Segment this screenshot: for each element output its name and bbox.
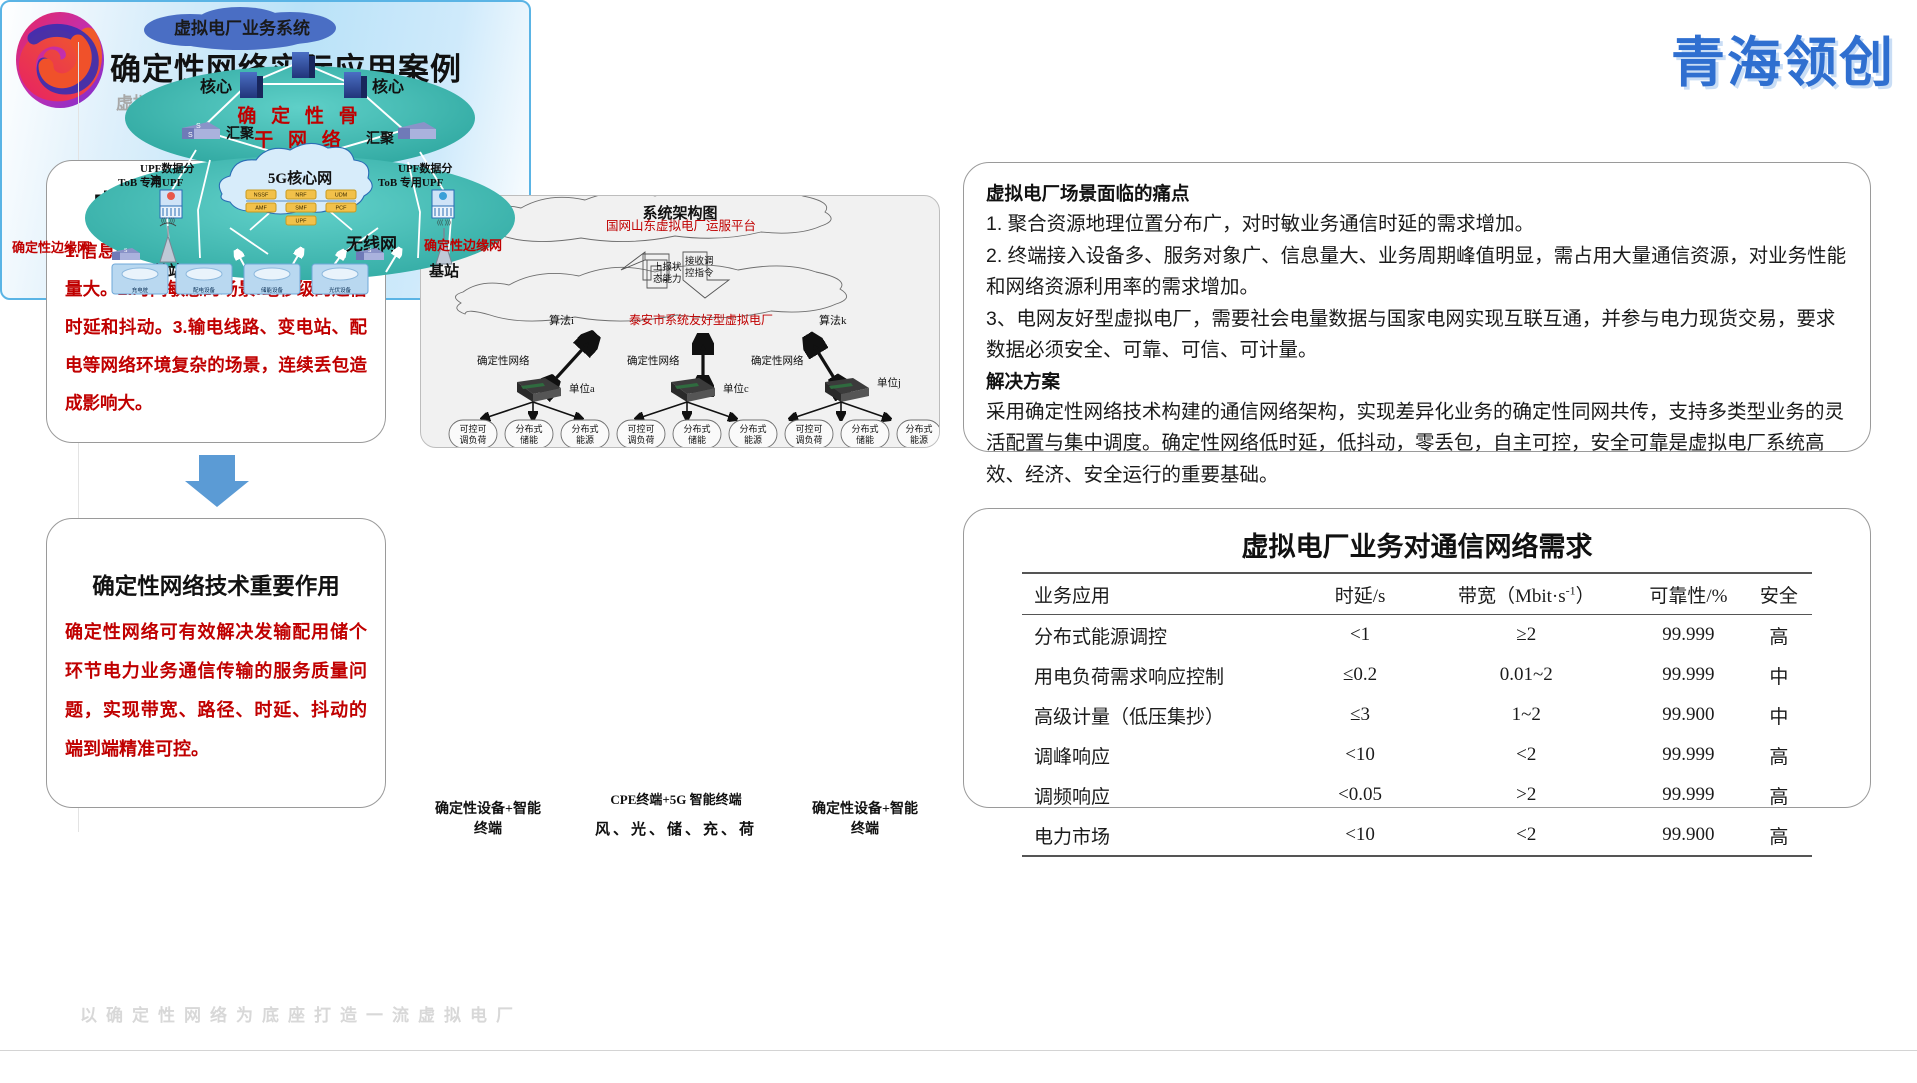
table-row: 电力市场<10<299.900高: [1022, 815, 1812, 856]
agg-right-label: 汇聚: [366, 131, 395, 147]
svg-text:((( ))): ((( ))): [161, 218, 175, 224]
cell-app: 用电负荷需求响应控制: [1022, 655, 1299, 695]
upf-right-line2: ToB 专用UPF: [378, 175, 444, 189]
cell-security: 高: [1746, 615, 1812, 656]
vpp-cloud-label: 虚拟电厂业务系统: [174, 18, 310, 38]
upf-node-icon: [160, 190, 182, 218]
arch-leaf-group: 可控可调负荷 分布式储能 分布式能源 可控可调负荷 分布式储能 分布式能源 可控…: [449, 420, 940, 448]
requirements-title: 虚拟电厂业务对通信网络需求: [980, 525, 1854, 564]
svg-text:分布式: 分布式: [739, 423, 766, 434]
edge-left-label: 确定性边缘网: [12, 240, 90, 255]
upf-left-line1: UPF数据分: [140, 161, 194, 175]
th-bandwidth: 带宽（Mbit·s-1）: [1422, 573, 1632, 615]
svg-text:SMF: SMF: [295, 206, 307, 212]
svg-text:S: S: [188, 132, 193, 139]
svg-text:储能: 储能: [688, 434, 706, 445]
th-app: 业务应用: [1022, 573, 1299, 615]
table-row: 调峰响应<10<299.999高: [1022, 735, 1812, 775]
arch-server-icon: [825, 378, 869, 402]
down-arrow-icon: [185, 455, 249, 507]
svg-text:充电桩: 充电桩: [132, 286, 149, 294]
svg-text:光伏设备: 光伏设备: [329, 286, 352, 294]
energy-sources-label: 风、光、储、充、荷: [546, 818, 806, 839]
arch-up-label-2: 态能力: [653, 273, 682, 285]
svg-text:储能: 储能: [856, 434, 874, 445]
bottom-left-terminal-label: 确定性设备+智能终端: [418, 800, 558, 840]
footer-watermark: 以确定性网络为底座打造一流虚拟电厂: [80, 1001, 522, 1026]
svg-text:储能设备: 储能设备: [261, 286, 284, 294]
cell-security: 高: [1746, 735, 1812, 775]
cell-security: 高: [1746, 815, 1812, 856]
arch-net-label-3: 确定性网络: [751, 354, 804, 367]
svg-text:调负荷: 调负荷: [795, 434, 822, 445]
table-header-row: 业务应用 时延/s 带宽（Mbit·s-1） 可靠性/% 安全: [1022, 573, 1812, 615]
pain-line-1: 1. 聚合资源地理位置分布广，对时敏业务通信时延的需求增加。: [986, 209, 1850, 241]
pain-points-card: 虚拟电厂场景面临的痛点 1. 聚合资源地理位置分布广，对时敏业务通信时延的需求增…: [963, 162, 1871, 452]
cell-security: 中: [1746, 655, 1812, 695]
role-card: 确定性网络技术重要作用 确定性网络可有效解决发输配用储个环节电力业务通信传输的服…: [46, 518, 386, 808]
network-diagram-svg: 虚拟电厂业务系统 核心 核心 确 定 性 骨 干 网 络 … …: [0, 0, 527, 296]
arch-up-label-1: 上报状: [653, 261, 682, 273]
core-server-icon: [292, 52, 315, 78]
cell-security: 高: [1746, 775, 1812, 815]
arch-down-label-2: 控指令: [685, 267, 714, 279]
arch-cloud-top-label: 国网山东虚拟电厂运服平台: [606, 218, 756, 233]
backbone-label-1: 确 定 性 骨: [237, 104, 362, 127]
5g-core-label: 5G核心网: [268, 169, 332, 187]
cell-reliability: 99.900: [1631, 815, 1746, 856]
svg-text:调负荷: 调负荷: [459, 434, 486, 445]
svg-text:可控可: 可控可: [627, 423, 654, 434]
svg-text:调负荷: 调负荷: [627, 434, 654, 445]
upf-right-line1: UPF数据分: [398, 161, 452, 175]
upf-left-line3: 流: [150, 173, 161, 187]
pain-line-2: 2. 终端接入设备多、服务对象广、信息量大、业务周期峰值明显，需占用大量通信资源…: [986, 241, 1850, 304]
upf-node-icon: [432, 190, 454, 218]
cell-reliability: 99.999: [1631, 615, 1746, 656]
edge-right-label: 确定性边缘网: [424, 238, 502, 253]
svg-text:AMF: AMF: [255, 206, 267, 212]
svg-text:分布式: 分布式: [851, 423, 878, 434]
role-body: 确定性网络可有效解决发输配用储个环节电力业务通信传输的服务质量问题，实现带宽、路…: [65, 613, 367, 769]
svg-text:分布式: 分布式: [905, 423, 932, 434]
table-row: 用电负荷需求响应控制≤0.20.01~299.999中: [1022, 655, 1812, 695]
svg-text:NSSF: NSSF: [254, 193, 269, 199]
svg-text:UDM: UDM: [335, 193, 348, 199]
arch-unit-a: 单位a: [569, 382, 595, 395]
svg-text:S: S: [196, 123, 201, 130]
svg-text:((( ))): ((( ))): [437, 220, 451, 226]
arch-algo-left: 算法i: [549, 313, 574, 327]
cpe-terminal-label: CPE终端+5G 智能终端: [546, 789, 806, 808]
cell-reliability: 99.999: [1631, 655, 1746, 695]
svg-text:PCF: PCF: [336, 206, 348, 212]
svg-text:UPF: UPF: [296, 219, 308, 225]
requirements-card: 虚拟电厂业务对通信网络需求 业务应用 时延/s 带宽（Mbit·s-1） 可靠性…: [963, 508, 1871, 808]
cell-reliability: 99.999: [1631, 735, 1746, 775]
cell-bandwidth: 0.01~2: [1422, 655, 1632, 695]
cell-bandwidth: <2: [1422, 735, 1632, 775]
svg-text:可控可: 可控可: [795, 423, 822, 434]
pain-heading-1: 虚拟电厂场景面临的痛点: [986, 179, 1850, 209]
svg-text:可控可: 可控可: [459, 423, 486, 434]
cell-latency: <10: [1299, 735, 1422, 775]
arch-server-icon: [671, 378, 715, 402]
cell-app: 调频响应: [1022, 775, 1299, 815]
pain-solution: 采用确定性网络技术构建的通信网络架构，实现差异化业务的确定性同网共传，支持多类型…: [986, 397, 1850, 492]
arch-cloud-mid-label: 泰安市系统友好型虚拟电厂: [629, 312, 773, 327]
svg-text:配电设备: 配电设备: [193, 286, 216, 294]
cell-app: 调峰响应: [1022, 735, 1299, 775]
th-latency: 时延/s: [1299, 573, 1422, 615]
th-security: 安全: [1746, 573, 1812, 615]
arch-net-label-2: 确定性网络: [627, 354, 680, 367]
th-reliability: 可靠性/%: [1631, 573, 1746, 615]
arch-net-label-1: 确定性网络: [477, 354, 530, 367]
arch-algo-right: 算法k: [819, 313, 847, 327]
svg-text:能源: 能源: [744, 434, 762, 445]
brand-logo: 青海领创: [1671, 18, 1895, 97]
base-right-label: 基站: [428, 262, 459, 280]
role-title: 确定性网络技术重要作用: [65, 569, 367, 601]
pain-heading-2: 解决方案: [986, 367, 1850, 397]
svg-text:储能: 储能: [520, 434, 538, 445]
svg-text:能源: 能源: [910, 434, 928, 445]
vpp-business-cloud: 虚拟电厂业务系统: [144, 7, 336, 50]
table-row: 分布式能源调控<1≥299.999高: [1022, 615, 1812, 656]
arch-unit-c: 单位c: [723, 382, 749, 395]
table-row: 高级计量（低压集抄）≤31~299.900中: [1022, 695, 1812, 735]
cell-bandwidth: >2: [1422, 775, 1632, 815]
agg-left-label: 汇聚: [226, 126, 255, 142]
network-diagram-card: 虚拟电厂业务系统 核心 核心 确 定 性 骨 干 网 络 … …: [0, 0, 531, 300]
requirements-table: 业务应用 时延/s 带宽（Mbit·s-1） 可靠性/% 安全 分布式能源调控<…: [1022, 572, 1812, 857]
svg-text:分布式: 分布式: [571, 423, 598, 434]
cell-latency: <10: [1299, 815, 1422, 856]
bottom-right-terminal-label: 确定性设备+智能终端: [795, 800, 935, 840]
cell-latency: <0.05: [1299, 775, 1422, 815]
cell-app: 高级计量（低压集抄）: [1022, 695, 1299, 735]
cell-bandwidth: ≥2: [1422, 615, 1632, 656]
arch-down-label-1: 接收调: [685, 255, 714, 267]
svg-text:分布式: 分布式: [515, 423, 542, 434]
cell-bandwidth: 1~2: [1422, 695, 1632, 735]
cell-latency: <1: [1299, 615, 1422, 656]
core-left-label: 核心: [200, 77, 232, 96]
pain-line-3: 3、电网友好型虚拟电厂，需要社会电量数据与国家电网实现互联互通，并参与电力现货交…: [986, 304, 1850, 367]
cell-app: 电力市场: [1022, 815, 1299, 856]
cell-security: 中: [1746, 695, 1812, 735]
arch-unit-j: 单位j: [877, 376, 901, 389]
table-row: 调频响应<0.05>299.999高: [1022, 775, 1812, 815]
cell-reliability: 99.999: [1631, 775, 1746, 815]
bottom-bar: [0, 1050, 1917, 1083]
cell-latency: ≤0.2: [1299, 655, 1422, 695]
svg-text:能源: 能源: [576, 434, 594, 445]
cell-reliability: 99.900: [1631, 695, 1746, 735]
cell-latency: ≤3: [1299, 695, 1422, 735]
core-right-label: 核心: [372, 77, 404, 96]
svg-text:NRF: NRF: [295, 193, 307, 199]
cell-bandwidth: <2: [1422, 815, 1632, 856]
cell-app: 分布式能源调控: [1022, 615, 1299, 656]
svg-text:分布式: 分布式: [683, 423, 710, 434]
